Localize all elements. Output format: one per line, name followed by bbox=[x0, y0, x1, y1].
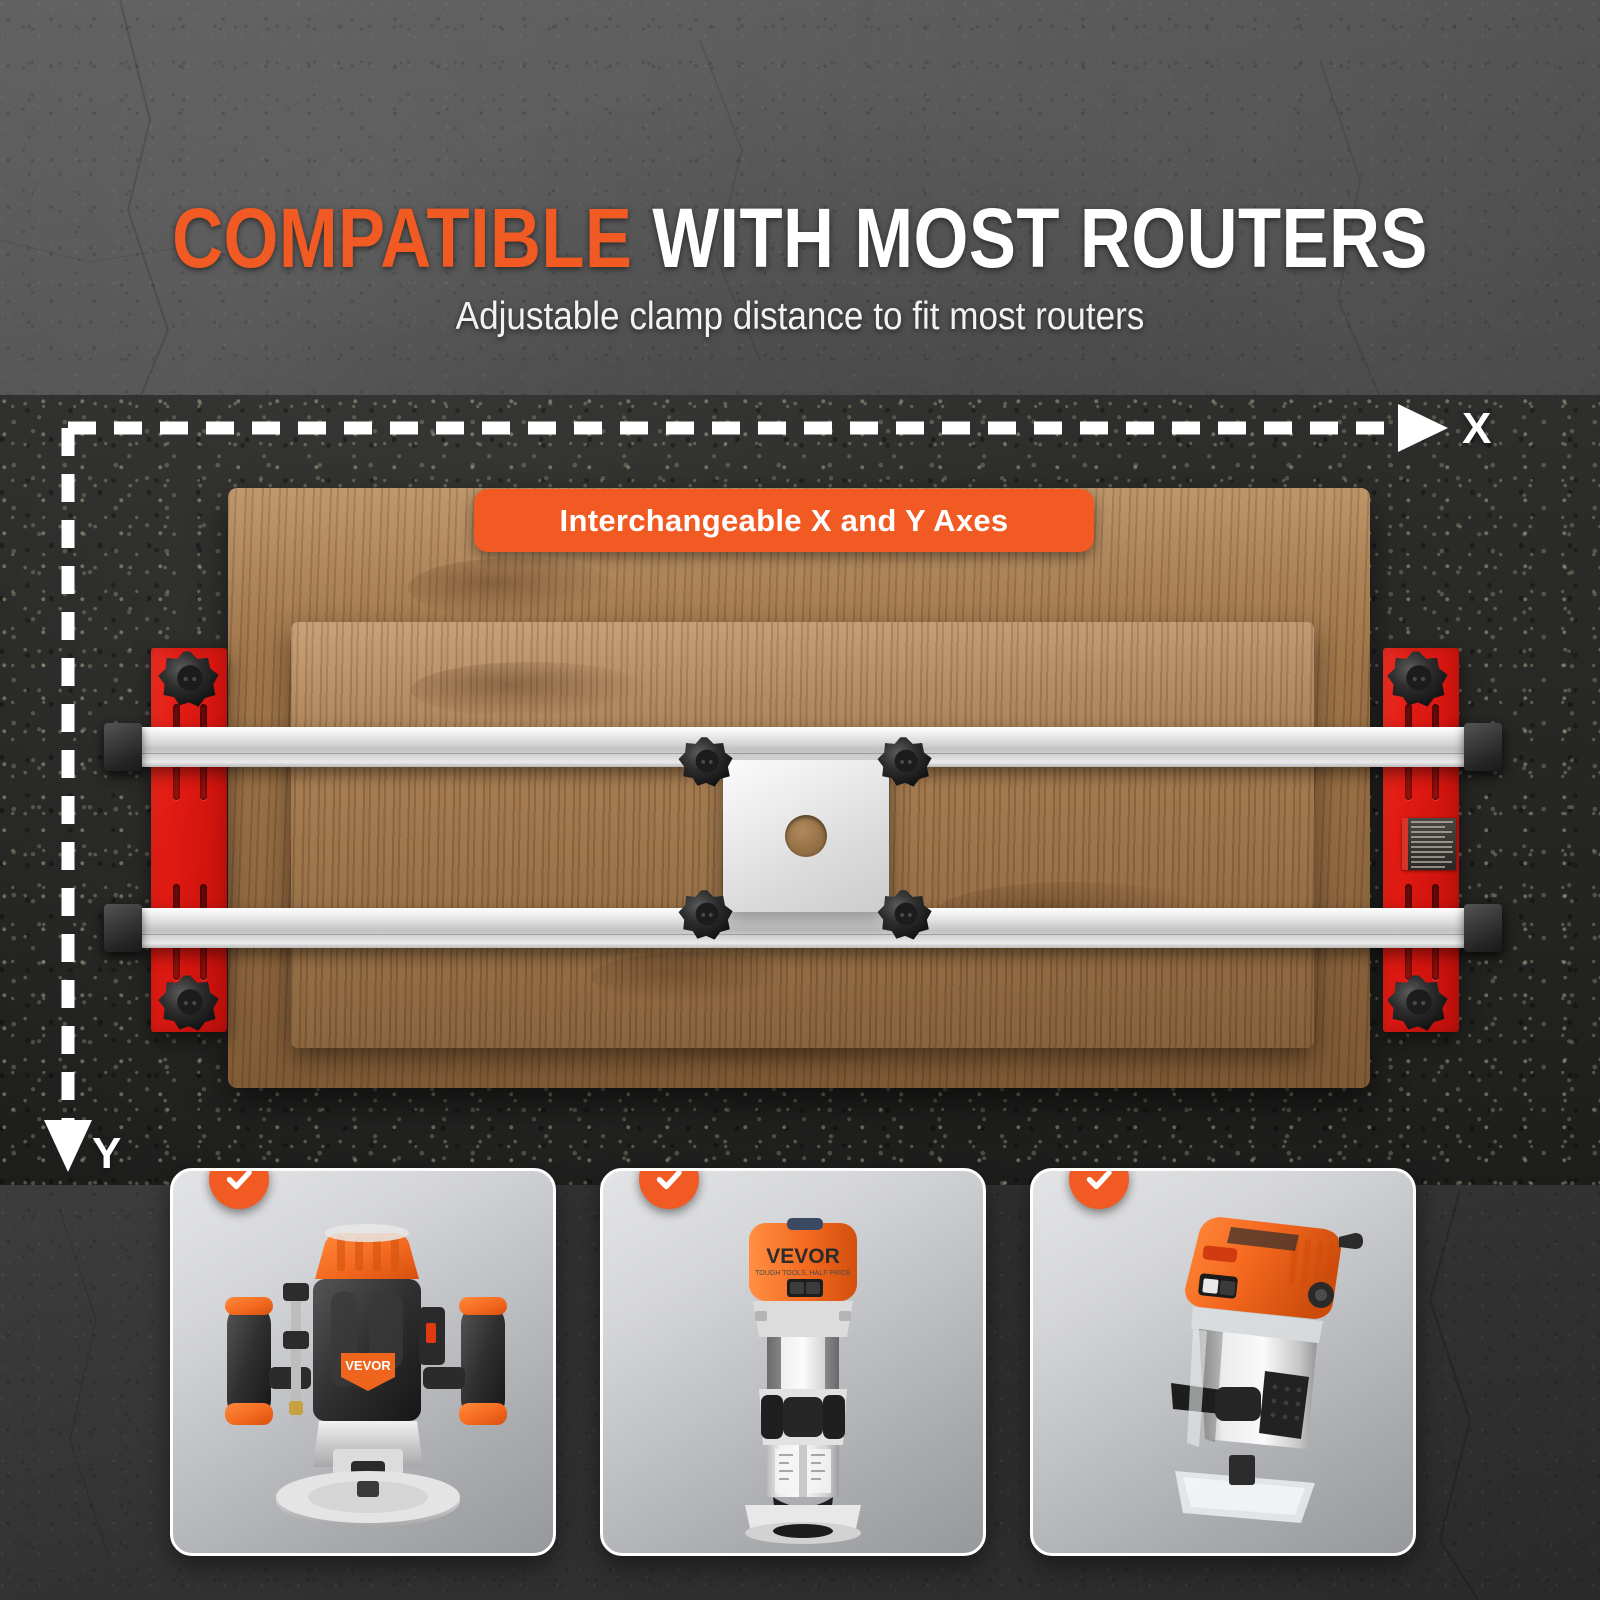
router-card-angled-trim[interactable] bbox=[1030, 1168, 1416, 1556]
router-bit-hole bbox=[785, 815, 827, 857]
svg-text:TOUGH TOOLS, HALF PRICE: TOUGH TOOLS, HALF PRICE bbox=[755, 1270, 851, 1277]
page-headline: COMPATIBLE WITH MOST ROUTERS bbox=[128, 196, 1472, 280]
badge-label: Interchangeable X and Y Axes bbox=[560, 503, 1009, 539]
svg-text:VEVOR: VEVOR bbox=[345, 1358, 391, 1373]
rail-endcap-top-left bbox=[104, 723, 142, 771]
aluminum-rail-bottom[interactable] bbox=[108, 908, 1501, 948]
rail-endcap-bottom-left bbox=[104, 904, 142, 952]
clamp-bracket-left[interactable] bbox=[151, 648, 227, 1032]
spec-warning-label-icon bbox=[1402, 818, 1456, 870]
interchangeable-axes-badge: Interchangeable X and Y Axes bbox=[474, 489, 1094, 552]
svg-text:VEVOR: VEVOR bbox=[766, 1245, 840, 1268]
compatible-routers-gallery: VEVOR bbox=[0, 1168, 1600, 1568]
product-feature-image: COMPATIBLE WITH MOST ROUTERS Adjustable … bbox=[0, 0, 1600, 1600]
headline-rest: WITH MOST ROUTERS bbox=[652, 191, 1427, 285]
rail-endcap-top-right bbox=[1464, 723, 1502, 771]
headline-accent-word: COMPATIBLE bbox=[172, 191, 632, 285]
router-card-plunge[interactable]: VEVOR bbox=[170, 1168, 556, 1556]
router-base-plate[interactable] bbox=[723, 760, 889, 912]
plunge-router-icon: VEVOR bbox=[173, 1171, 553, 1553]
rail-endcap-bottom-right bbox=[1464, 904, 1502, 952]
router-card-compact-trim[interactable]: VEVOR TOUGH TOOLS, HALF PRICE bbox=[600, 1168, 986, 1556]
angled-trim-router-icon bbox=[1033, 1171, 1413, 1553]
page-subtitle: Adjustable clamp distance to fit most ro… bbox=[80, 297, 1520, 336]
x-axis-label: X bbox=[1462, 407, 1491, 451]
compact-trim-router-icon: VEVOR TOUGH TOOLS, HALF PRICE bbox=[603, 1171, 983, 1553]
